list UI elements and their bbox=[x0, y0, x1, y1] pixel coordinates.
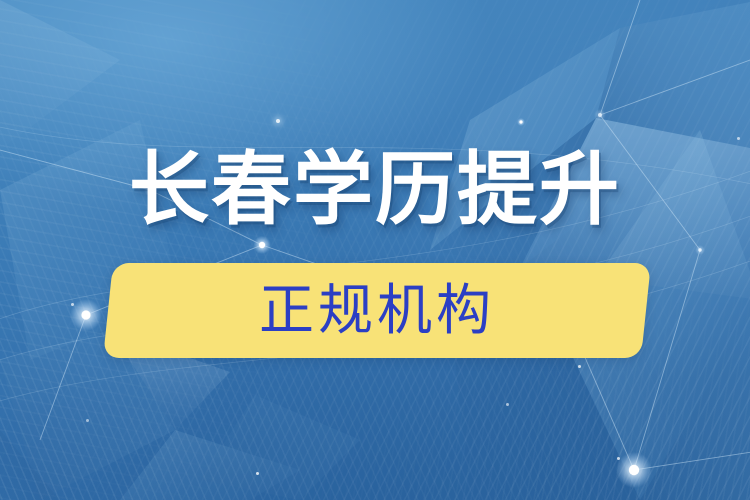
sparkle-dot bbox=[71, 303, 74, 306]
sparkle-dot bbox=[256, 472, 259, 475]
sparkle-dot bbox=[86, 419, 89, 422]
highlight-ribbon: 正规机构 bbox=[108, 263, 646, 358]
sparkle-dot bbox=[617, 457, 620, 460]
ribbon-label: 正规机构 bbox=[108, 263, 646, 358]
background-gradient bbox=[0, 0, 750, 500]
mesh-texture-lower-right bbox=[0, 0, 750, 500]
headline-container: 长春学历提升 bbox=[0, 150, 750, 230]
sparkle-dot bbox=[506, 403, 509, 406]
sparkle-dot bbox=[578, 365, 581, 368]
hero-banner: 长春学历提升 正规机构 bbox=[0, 0, 750, 500]
sparkle-dot bbox=[276, 119, 280, 123]
sparkle-dot bbox=[737, 137, 740, 140]
page-title: 长春学历提升 bbox=[129, 150, 621, 230]
mesh-texture-lower-left bbox=[0, 0, 750, 500]
mesh-texture-right bbox=[0, 0, 750, 500]
decorative-polygons bbox=[0, 0, 750, 500]
mesh-texture-upper-left bbox=[0, 0, 750, 500]
